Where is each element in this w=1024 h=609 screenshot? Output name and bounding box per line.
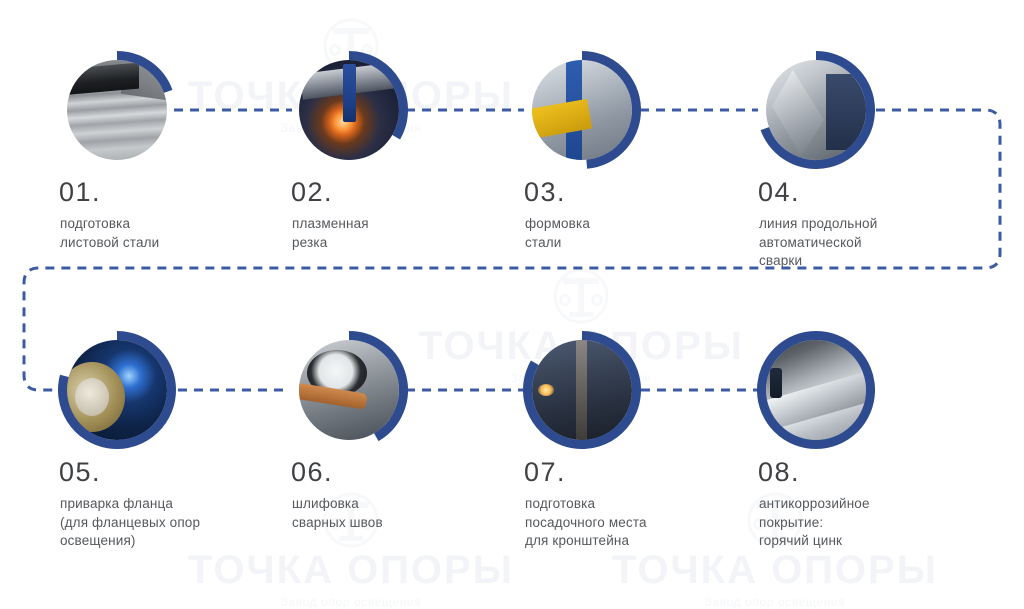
step-circle bbox=[757, 51, 875, 169]
step-number: 01. bbox=[59, 179, 101, 206]
step-ring-arc bbox=[757, 51, 875, 169]
step-circle bbox=[58, 51, 176, 169]
step-caption: плазменная резка bbox=[292, 215, 369, 252]
step-caption: приварка фланца (для фланцевых опор осве… bbox=[60, 495, 200, 551]
step-caption: формовка стали bbox=[525, 215, 590, 252]
step-caption: линия продольной автоматической сварки bbox=[759, 215, 877, 271]
step-number: 02. bbox=[291, 179, 333, 206]
step-ring-arc bbox=[757, 331, 875, 449]
process-infographic: ТОЧКА ОПОРЫ Завод опор освещения ТОЧКА О… bbox=[0, 0, 1024, 575]
step-ring-arc bbox=[523, 331, 641, 449]
step-circle bbox=[290, 331, 408, 449]
step-caption: подготовка посадочного места для кронште… bbox=[525, 495, 647, 551]
step-ring-arc bbox=[523, 51, 641, 169]
step-ring-arc bbox=[58, 51, 176, 169]
step-ring-arc bbox=[290, 51, 408, 169]
step-ring-arc bbox=[290, 331, 408, 449]
step-number: 04. bbox=[758, 179, 800, 206]
watermark-subtitle: Завод опор освещения bbox=[705, 596, 846, 608]
step-number: 03. bbox=[524, 179, 566, 206]
step-circle bbox=[290, 51, 408, 169]
step-circle bbox=[523, 51, 641, 169]
step-circle bbox=[523, 331, 641, 449]
step-caption: антикоррозийное покрытие: горячий цинк bbox=[759, 495, 870, 551]
step-circle bbox=[58, 331, 176, 449]
step-number: 05. bbox=[59, 459, 101, 486]
step-ring-arc bbox=[58, 331, 176, 449]
step-circle bbox=[757, 331, 875, 449]
step-number: 08. bbox=[758, 459, 800, 486]
step-caption: шлифовка сварных швов bbox=[292, 495, 383, 532]
step-number: 07. bbox=[524, 459, 566, 486]
step-caption: подготовка листовой стали bbox=[60, 215, 159, 252]
watermark-subtitle: Завод опор освещения bbox=[281, 596, 422, 608]
step-number: 06. bbox=[291, 459, 333, 486]
